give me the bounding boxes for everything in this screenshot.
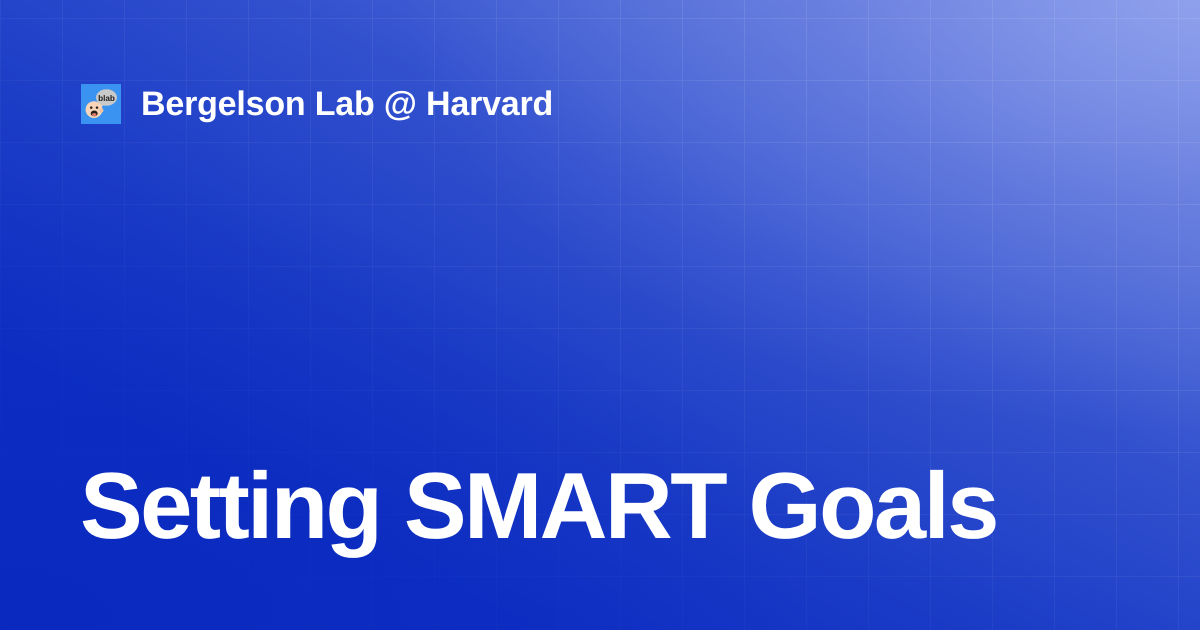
- svg-text:blab: blab: [98, 94, 115, 103]
- blab-baby-logo-icon: blab: [81, 84, 121, 124]
- site-branding[interactable]: blab Bergelson Lab @ Harvard: [81, 84, 553, 124]
- site-title: Bergelson Lab @ Harvard: [141, 87, 553, 121]
- page-title: Setting SMART Goals: [80, 456, 1120, 556]
- social-preview-card: blab Bergelson Lab @ Harvard Setting SMA…: [0, 0, 1200, 630]
